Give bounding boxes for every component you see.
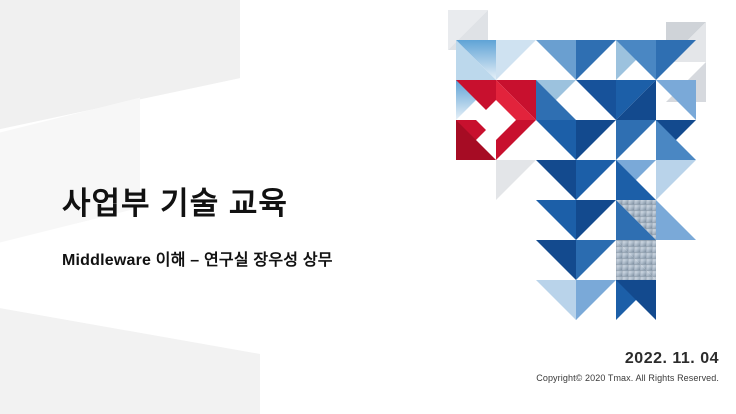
- page-title: 사업부 기술 교육: [62, 186, 482, 222]
- title-slide: 사업부 기술 교육 Middleware 이해 – 연구실 장우성 상무 202…: [0, 0, 736, 414]
- background-wedge-top-left: [0, 0, 240, 142]
- background-wedge-bottom-left: [0, 294, 260, 414]
- title-block: 사업부 기술 교육 Middleware 이해 – 연구실 장우성 상무: [62, 186, 482, 270]
- copyright-notice: Copyright© 2020 Tmax. All Rights Reserve…: [536, 373, 719, 383]
- presentation-date: 2022. 11. 04: [625, 350, 719, 368]
- page-subtitle: Middleware 이해 – 연구실 장우성 상무: [62, 246, 482, 270]
